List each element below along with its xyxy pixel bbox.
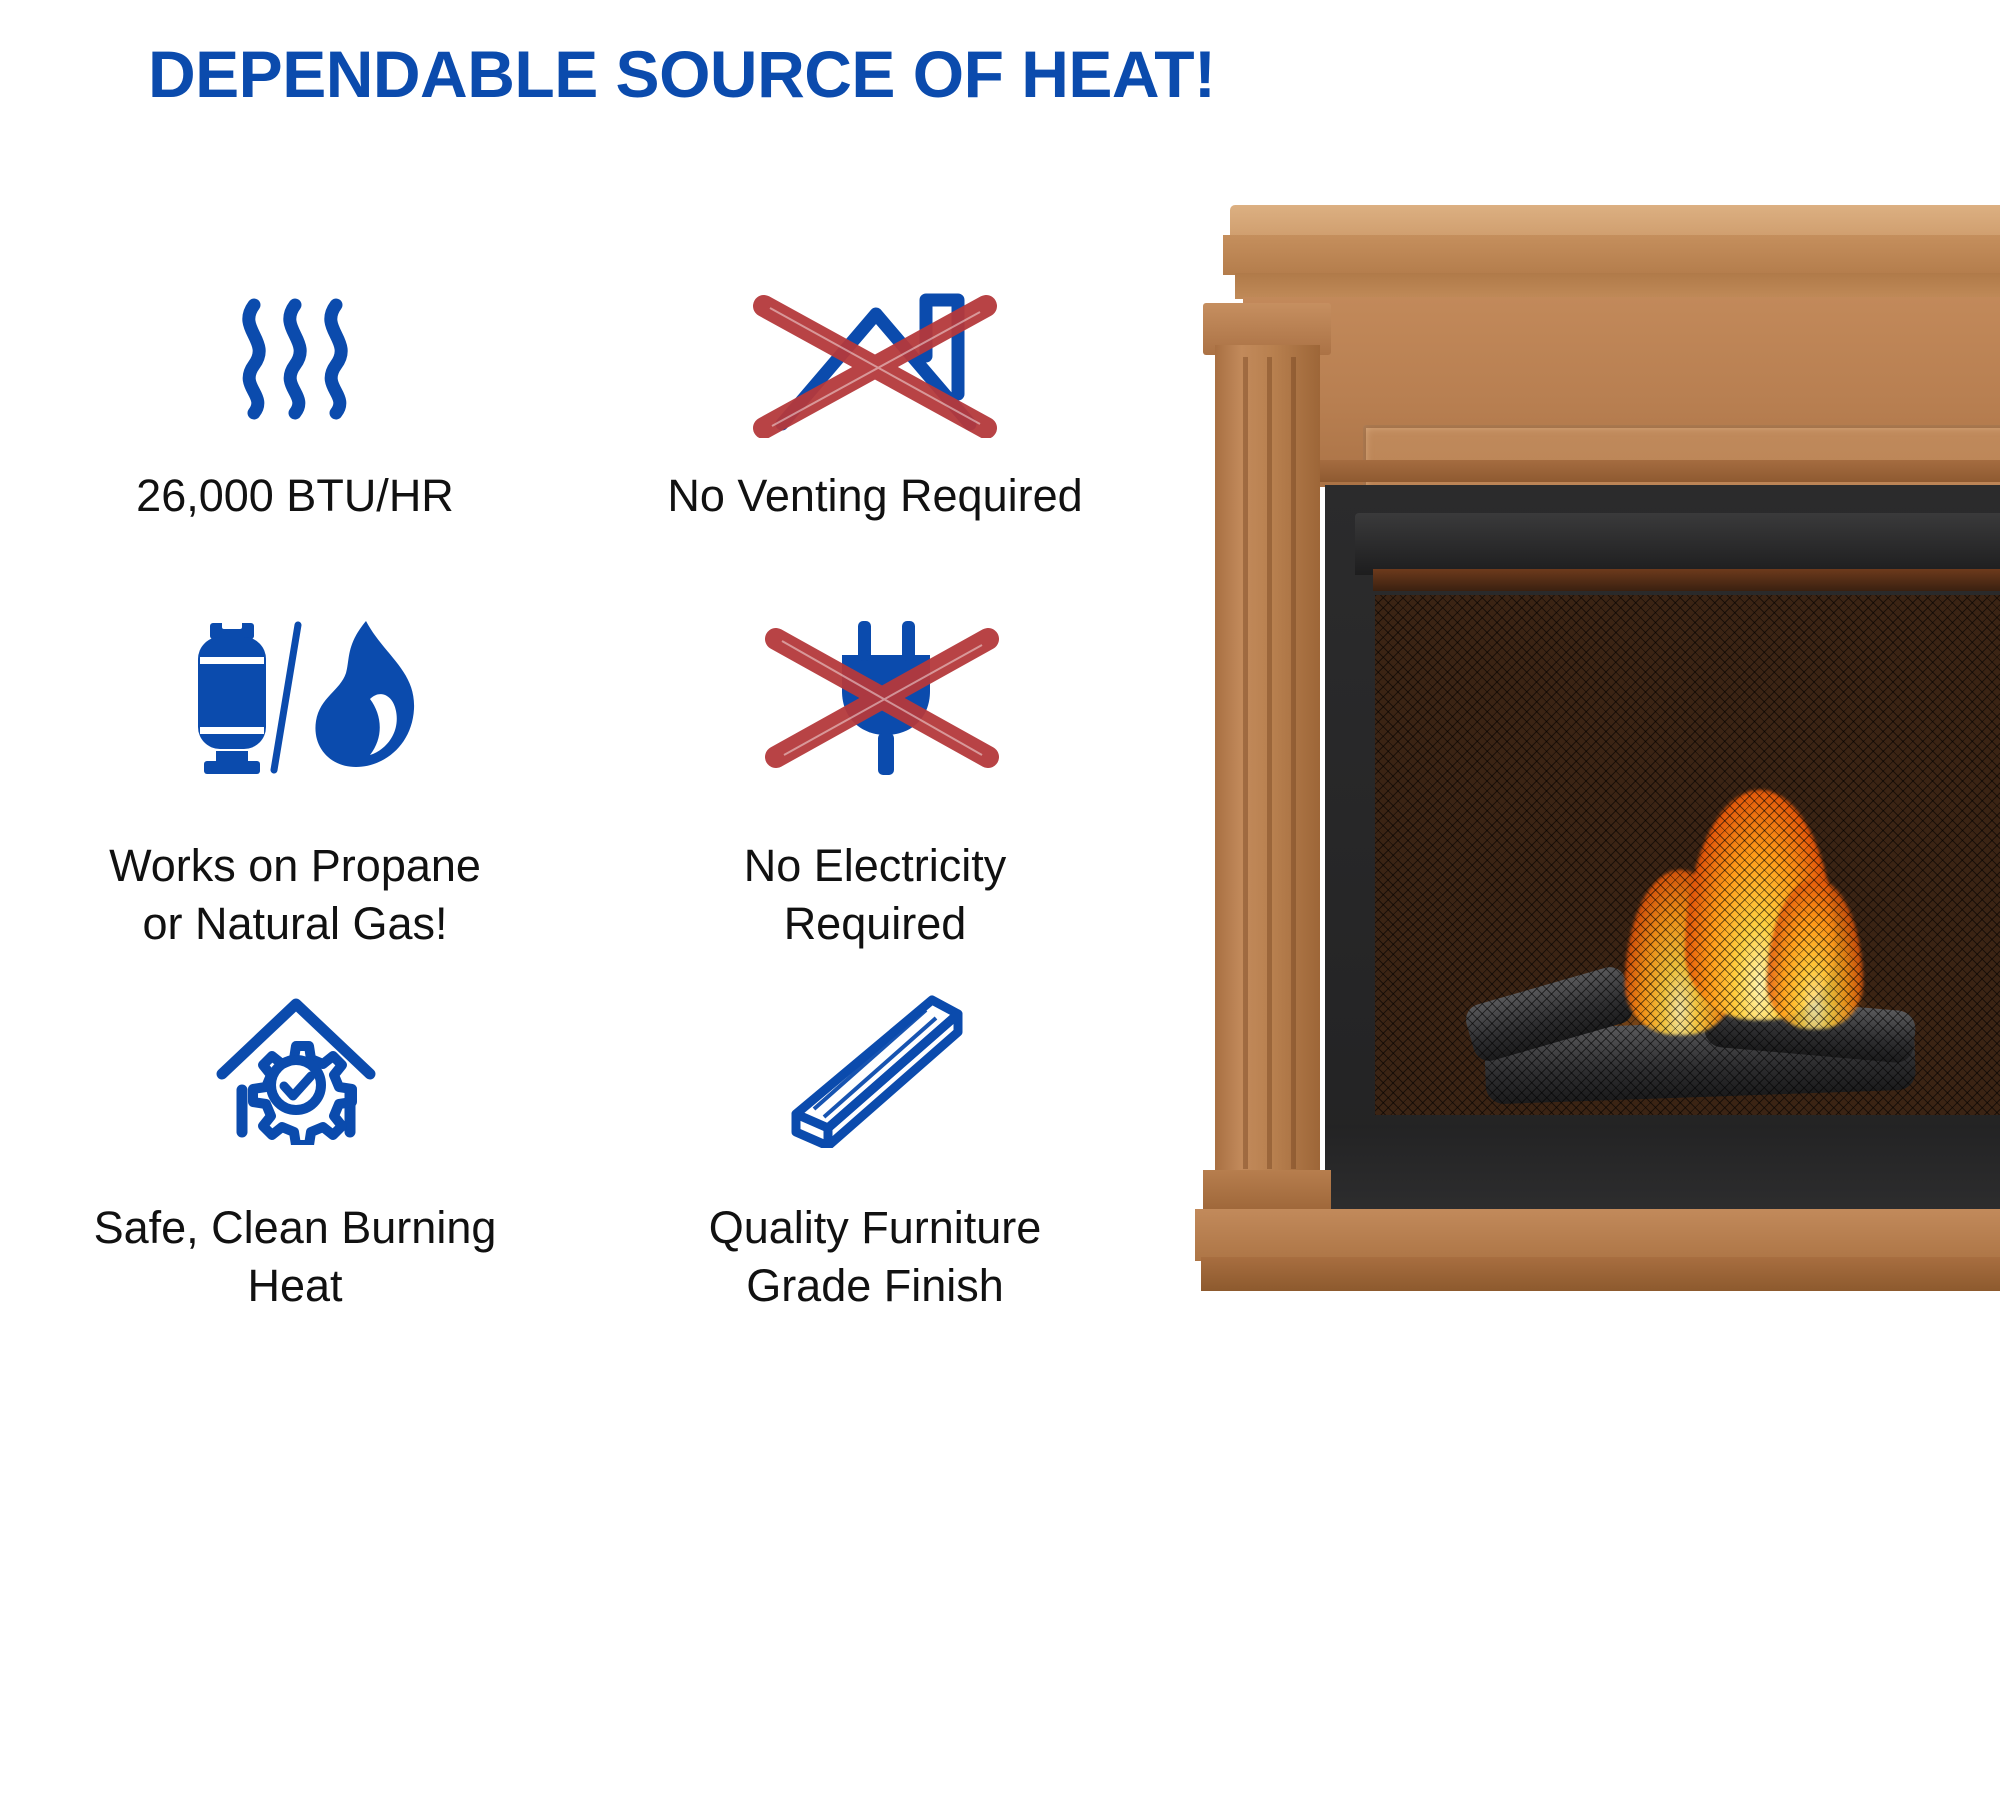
feature-propane-natural-gas: Works on Propane or Natural Gas! — [0, 610, 590, 980]
base-plinth-lower — [1201, 1257, 2000, 1291]
pilaster-flute — [1267, 357, 1272, 1169]
feature-furniture-grade-finish: Quality Furniture Grade Finish — [590, 980, 1160, 1320]
feature-label: 26,000 BTU/HR — [136, 467, 454, 525]
feature-grid: 26,000 BTU/HR — [0, 270, 1210, 1320]
feature-label: No Electricity Required — [744, 837, 1007, 952]
firebox-glass-window — [1375, 595, 2000, 1115]
feature-safe-clean-burning: Safe, Clean Burning Heat — [0, 980, 590, 1320]
mantel-top-surface — [1230, 205, 2000, 239]
pilaster-flute — [1243, 357, 1248, 1169]
no-venting-icon — [740, 270, 1010, 445]
heat-waves-icon — [220, 270, 370, 445]
house-gear-check-icon — [208, 980, 383, 1155]
page-title: DEPENDABLE SOURCE OF HEAT! — [148, 36, 1548, 112]
propane-natural-gas-icon — [170, 610, 420, 785]
infographic-page: DEPENDABLE SOURCE OF HEAT! 26,000 BTU/HR — [0, 0, 2000, 1800]
feature-label: Quality Furniture Grade Finish — [709, 1199, 1042, 1314]
feature-label: Works on Propane or Natural Gas! — [109, 837, 481, 952]
base-plinth-upper — [1195, 1209, 2000, 1261]
feature-btu-rating: 26,000 BTU/HR — [0, 270, 590, 610]
feature-label: Safe, Clean Burning Heat — [94, 1199, 497, 1314]
mantel-under-shadow — [1243, 460, 2000, 482]
mantel-crown-molding — [1223, 235, 2000, 275]
firebox-lintel-glow — [1373, 569, 2000, 591]
feature-label: No Venting Required — [667, 467, 1082, 525]
lumber-board-icon — [780, 980, 970, 1155]
mantel-face — [1243, 297, 2000, 487]
firebox-lintel — [1355, 513, 2000, 575]
pilaster-flute — [1291, 357, 1296, 1169]
feature-no-venting: No Venting Required — [590, 270, 1160, 610]
feature-no-electricity: No Electricity Required — [590, 610, 1160, 980]
gas-fireplace-mantel-photo — [1195, 195, 2000, 1305]
mantel-crown-lower — [1235, 273, 2000, 299]
no-electricity-icon — [750, 610, 1000, 785]
firebox-lower-panel — [1325, 1125, 2000, 1221]
